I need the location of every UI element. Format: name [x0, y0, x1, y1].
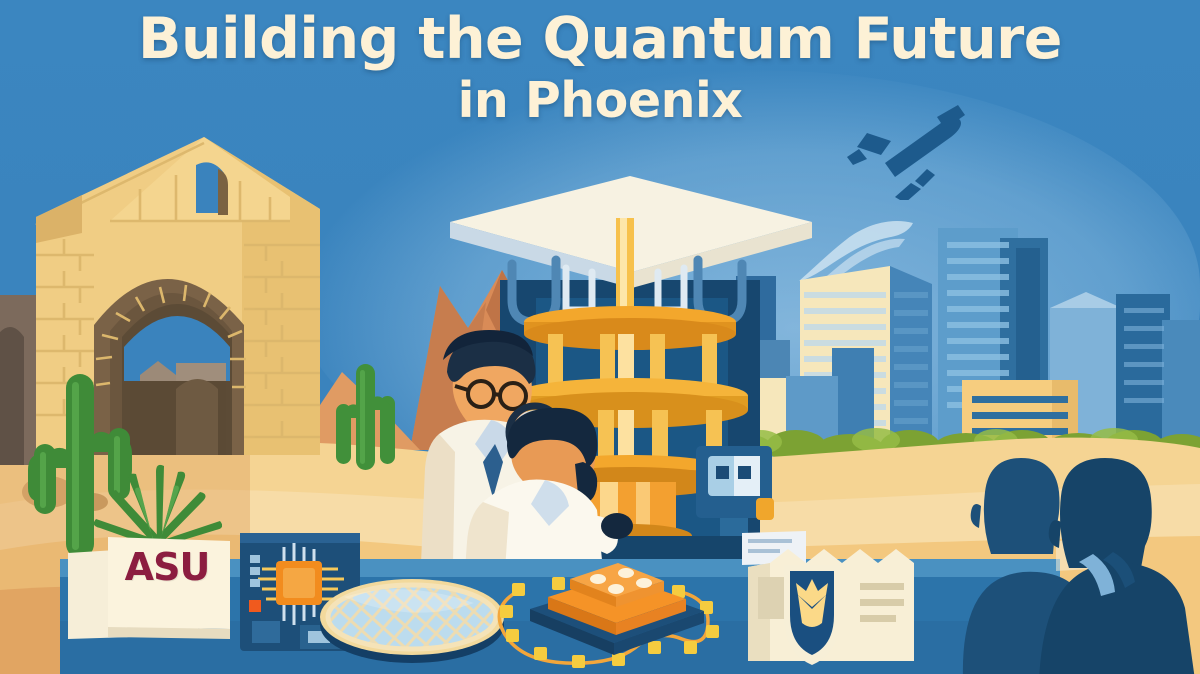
stakeholder-silhouettes: [935, 430, 1200, 674]
silhouette-man: [1039, 458, 1195, 674]
asu-logo-text: ASU: [112, 545, 222, 589]
security-shield-document: [742, 531, 914, 665]
quantum-chip: [499, 563, 719, 668]
poster-canvas: Building the Quantum Future in Phoenix A…: [0, 0, 1200, 674]
saguaro-cactus-small: [330, 360, 400, 470]
